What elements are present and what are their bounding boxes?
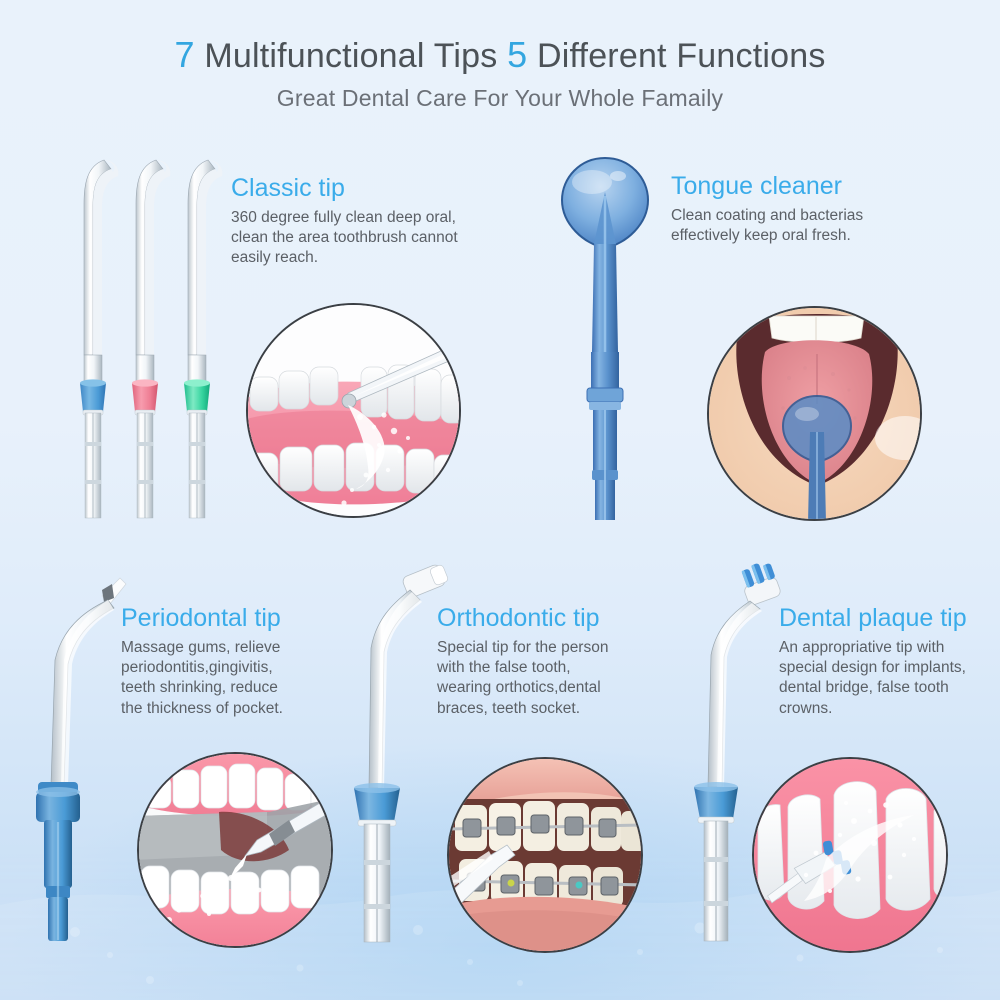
page-subtitle: Great Dental Care For Your Whole Famaily <box>0 85 1000 112</box>
title-number-tips: 7 <box>174 34 194 75</box>
periodontal-tip-desc-line: the thickness of pocket. <box>121 699 283 719</box>
classic-tip-photo <box>246 303 461 518</box>
classic-tip-desc-line: easily reach. <box>231 248 458 268</box>
tongue-cleaner-desc-line: effectively keep oral fresh. <box>671 226 863 246</box>
periodontal-tip-description: Massage gums, relieve periodontitis,ging… <box>121 638 283 720</box>
section-classic-tip: Classic tip 360 degree fully clean deep … <box>231 175 458 269</box>
dental-plaque-tip-desc-line: An appropriative tip with <box>779 638 967 658</box>
dental-plaque-tip-desc-line: dental bridge, false tooth <box>779 678 967 698</box>
orthodontic-tip-desc-line: wearing orthotics,dental <box>437 678 608 698</box>
classic-tip-desc-line: 360 degree fully clean deep oral, <box>231 208 458 228</box>
orthodontic-tip-desc-line: with the false tooth, <box>437 658 608 678</box>
classic-tip-desc-line: clean the area toothbrush cannot <box>231 228 458 248</box>
orthodontic-tip-photo <box>447 757 643 953</box>
title-spacer-2 <box>527 37 537 75</box>
dental-plaque-tip-desc-line: special design for implants, <box>779 658 967 678</box>
orthodontic-tip-nozzle <box>342 560 452 945</box>
infographic-canvas: 7 Multifunctional Tips 5 Different Funct… <box>0 0 1000 1000</box>
orthodontic-tip-desc-line: braces, teeth socket. <box>437 699 608 719</box>
dental-plaque-tip-description: An appropriative tip with special design… <box>779 638 967 720</box>
classic-tip-description: 360 degree fully clean deep oral, clean … <box>231 208 458 269</box>
periodontal-tip-nozzle <box>22 560 132 945</box>
periodontal-tip-title: Periodontal tip <box>121 605 283 633</box>
tongue-cleaner-tool <box>552 152 658 522</box>
section-dental-plaque-tip: Dental plaque tip An appropriative tip w… <box>779 605 967 719</box>
title-label-tips: Multifunctional Tips <box>204 37 497 75</box>
page-title: 7 Multifunctional Tips 5 Different Funct… <box>0 34 1000 76</box>
section-tongue-cleaner: Tongue cleaner Clean coating and bacteri… <box>671 173 863 246</box>
tongue-cleaner-desc-line: Clean coating and bacterias <box>671 206 863 226</box>
dental-plaque-tip-desc-line: crowns. <box>779 699 967 719</box>
classic-tip-nozzles <box>62 150 242 525</box>
title-spacer-1 <box>497 37 507 75</box>
orthodontic-tip-title: Orthodontic tip <box>437 605 608 633</box>
section-orthodontic-tip: Orthodontic tip Special tip for the pers… <box>437 605 608 719</box>
tongue-cleaner-photo <box>707 306 922 521</box>
periodontal-tip-desc-line: Massage gums, relieve <box>121 638 283 658</box>
title-text-tips <box>195 37 205 75</box>
periodontal-tip-photo <box>137 752 333 948</box>
tongue-cleaner-description: Clean coating and bacterias effectively … <box>671 206 863 247</box>
classic-tip-title: Classic tip <box>231 175 458 203</box>
section-periodontal-tip: Periodontal tip Massage gums, relieve pe… <box>121 605 283 719</box>
title-label-functions: Different Functions <box>537 37 826 75</box>
header: 7 Multifunctional Tips 5 Different Funct… <box>0 34 1000 112</box>
dental-plaque-tip-title: Dental plaque tip <box>779 605 967 633</box>
tongue-cleaner-title: Tongue cleaner <box>671 173 863 201</box>
orthodontic-tip-desc-line: Special tip for the person <box>437 638 608 658</box>
title-number-functions: 5 <box>507 34 527 75</box>
periodontal-tip-desc-line: periodontitis,gingivitis, <box>121 658 283 678</box>
periodontal-tip-desc-line: teeth shrinking, reduce <box>121 678 283 698</box>
orthodontic-tip-description: Special tip for the person with the fals… <box>437 638 608 720</box>
dental-plaque-tip-photo <box>752 757 948 953</box>
